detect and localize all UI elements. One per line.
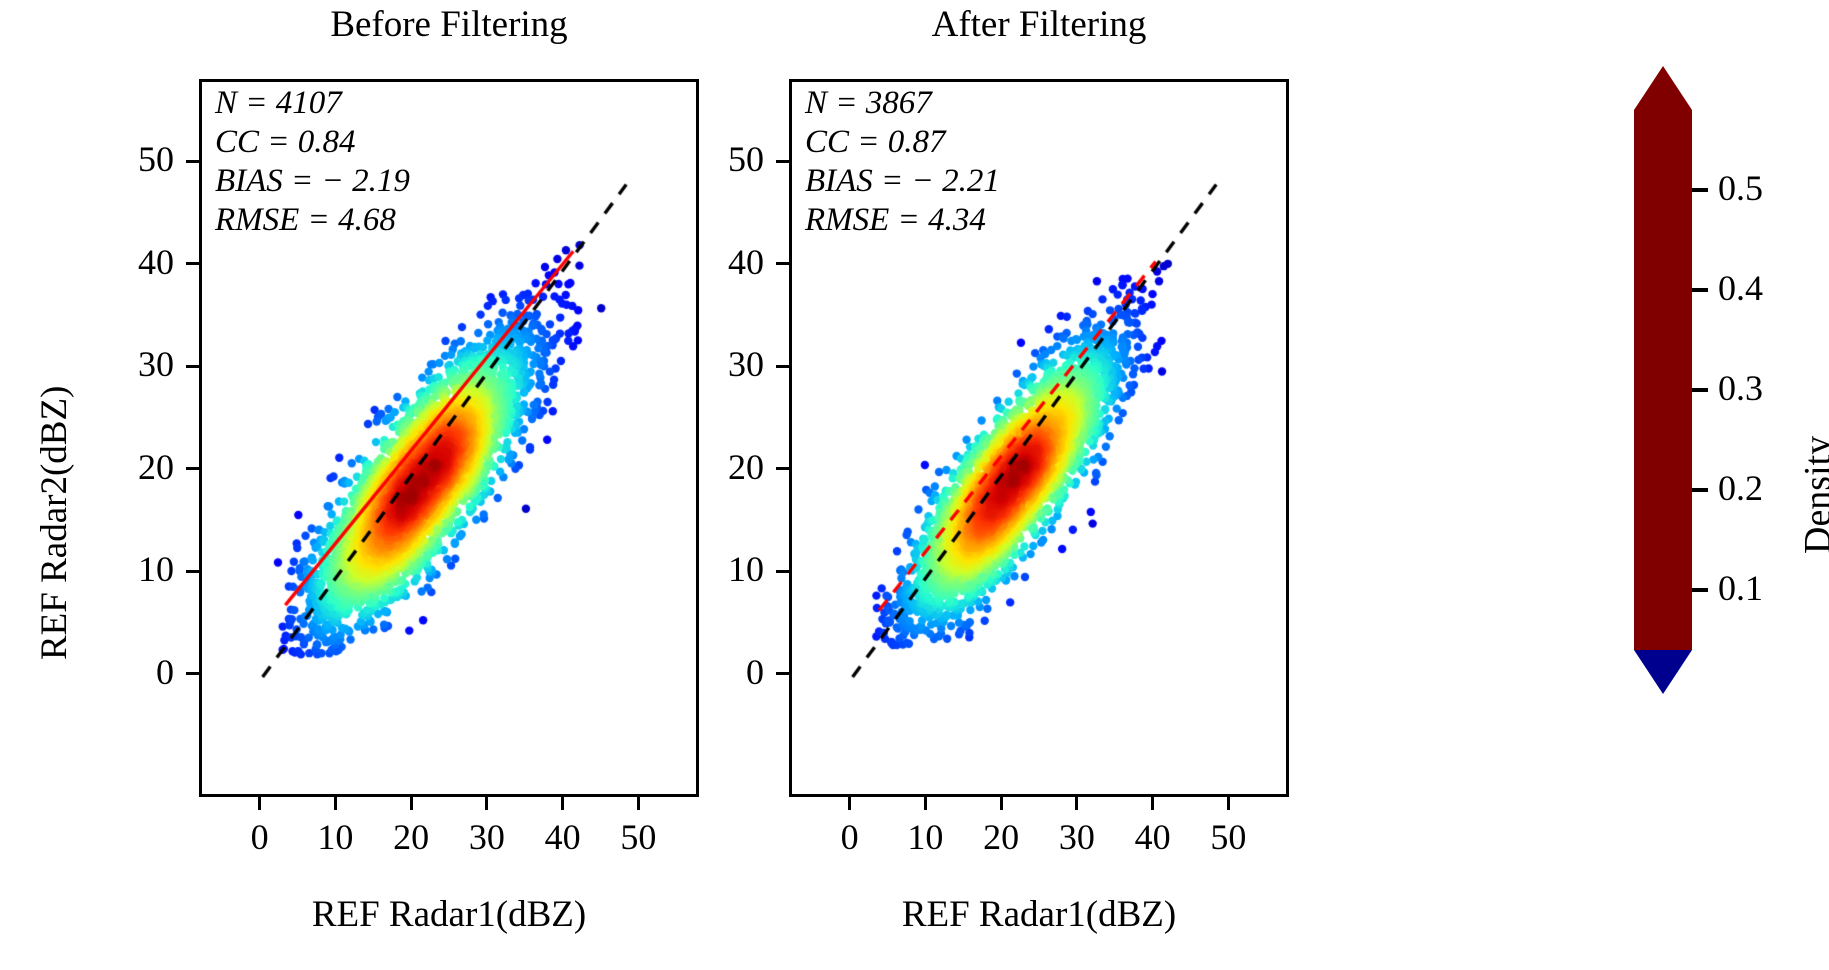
colorbar-tick-label: 0.4: [1718, 270, 1763, 306]
ytick-10: [776, 570, 789, 573]
xtick-0: [258, 797, 261, 810]
ytick-label-40: 40: [69, 244, 174, 280]
xtick-10: [334, 797, 337, 810]
xtick-label-40: 40: [523, 819, 603, 855]
xtick-label-20: 20: [961, 819, 1041, 855]
xaxis-label-after: REF Radar1(dBZ): [789, 896, 1289, 933]
ytick-label-0: 0: [69, 654, 174, 690]
stat-n-after: N = 3867: [805, 84, 1000, 123]
xtick-label-30: 30: [1037, 819, 1117, 855]
ytick-10: [186, 570, 199, 573]
ytick-50: [186, 160, 199, 163]
ytick-label-30: 30: [69, 346, 174, 382]
panel-title-after: After Filtering: [789, 6, 1289, 43]
ytick-30: [186, 365, 199, 368]
stat-cc-after: CC = 0.87: [805, 123, 1000, 162]
xtick-40: [561, 797, 564, 810]
stat-rmse-after: RMSE = 4.34: [805, 201, 1000, 240]
stats-block-after: N = 3867 CC = 0.87 BIAS = − 2.21 RMSE = …: [805, 84, 1000, 240]
ytick-label-10: 10: [659, 551, 764, 587]
stat-bias-before: BIAS = − 2.19: [215, 162, 410, 201]
ytick-50: [776, 160, 789, 163]
ytick-0: [186, 672, 199, 675]
stat-bias-after: BIAS = − 2.21: [805, 162, 1000, 201]
xtick-0: [848, 797, 851, 810]
ytick-20: [776, 467, 789, 470]
colorbar-tick-label: 0.2: [1718, 470, 1763, 506]
yaxis-label-before: REF Radar2(dBZ): [36, 386, 73, 660]
ytick-20: [186, 467, 199, 470]
xtick-label-30: 30: [447, 819, 527, 855]
colorbar-extend-top-arrow: [1634, 66, 1692, 110]
panel-title-before: Before Filtering: [199, 6, 699, 43]
stats-block-before: N = 4107 CC = 0.84 BIAS = − 2.19 RMSE = …: [215, 84, 410, 240]
ytick-label-20: 20: [69, 449, 174, 485]
colorbar-tick-0.2: [1692, 488, 1708, 492]
stat-rmse-before: RMSE = 4.68: [215, 201, 410, 240]
xtick-label-0: 0: [810, 819, 890, 855]
xtick-label-50: 50: [1188, 819, 1268, 855]
colorbar-tick-0.3: [1692, 388, 1708, 392]
colorbar-tick-label: 0.5: [1718, 170, 1763, 206]
xtick-label-20: 20: [371, 819, 451, 855]
xtick-10: [924, 797, 927, 810]
colorbar-gradient: [1634, 110, 1692, 650]
ytick-0: [776, 672, 789, 675]
ytick-30: [776, 365, 789, 368]
xtick-label-40: 40: [1113, 819, 1193, 855]
xtick-20: [410, 797, 413, 810]
ytick-label-50: 50: [69, 141, 174, 177]
colorbar-tick-0.1: [1692, 588, 1708, 592]
ytick-label-50: 50: [659, 141, 764, 177]
xtick-20: [1000, 797, 1003, 810]
ytick-label-10: 10: [69, 551, 174, 587]
colorbar-tick-0.4: [1692, 288, 1708, 292]
xtick-50: [637, 797, 640, 810]
xtick-40: [1151, 797, 1154, 810]
xaxis-label-before: REF Radar1(dBZ): [199, 896, 699, 933]
density-scatter-figure: Before Filtering N = 4107 CC = 0.84 BIAS…: [0, 0, 1829, 970]
xtick-50: [1227, 797, 1230, 810]
xtick-30: [1075, 797, 1078, 810]
colorbar-tick-label: 0.1: [1718, 570, 1763, 606]
xtick-label-10: 10: [885, 819, 965, 855]
stat-n-before: N = 4107: [215, 84, 410, 123]
colorbar-title: Density: [1799, 436, 1829, 554]
xtick-label-10: 10: [295, 819, 375, 855]
colorbar-tick-0.5: [1692, 188, 1708, 192]
ytick-label-20: 20: [659, 449, 764, 485]
xtick-label-0: 0: [220, 819, 300, 855]
ytick-40: [776, 262, 789, 265]
ytick-40: [186, 262, 199, 265]
colorbar-tick-label: 0.3: [1718, 370, 1763, 406]
xtick-label-50: 50: [598, 819, 678, 855]
stat-cc-before: CC = 0.84: [215, 123, 410, 162]
colorbar-extend-bottom-arrow: [1634, 650, 1692, 694]
ytick-label-40: 40: [659, 244, 764, 280]
xtick-30: [485, 797, 488, 810]
ytick-label-0: 0: [659, 654, 764, 690]
ytick-label-30: 30: [659, 346, 764, 382]
